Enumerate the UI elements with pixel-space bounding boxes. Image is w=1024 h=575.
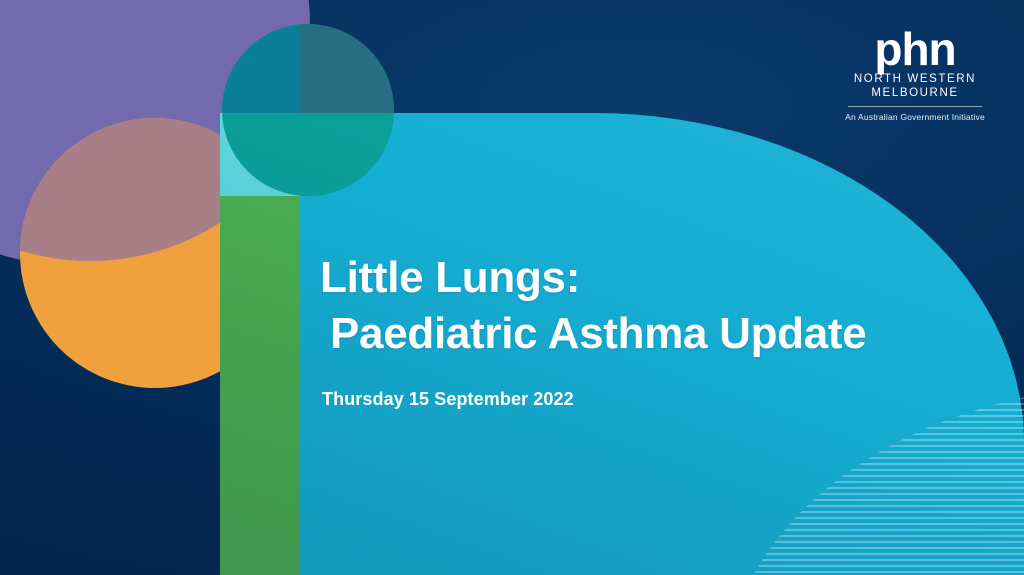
slide-title-line-2: Paediatric Asthma Update: [330, 306, 940, 362]
striped-arc-decoration: [724, 385, 1024, 575]
slide-date: Thursday 15 September 2022: [322, 389, 940, 410]
logo-org-line-1: NORTH WESTERN: [840, 72, 990, 86]
orange-cyan-overlap: [220, 196, 290, 390]
slide-title-line-1: Little Lungs:: [320, 250, 940, 306]
teal-circle-on-navy: [300, 24, 394, 113]
logo-org-line-2: MELBOURNE: [840, 86, 990, 100]
presentation-slide: phn NORTH WESTERN MELBOURNE An Australia…: [0, 0, 1024, 575]
phn-wordmark: phn: [840, 28, 990, 72]
logo-tagline: An Australian Government Initiative: [840, 112, 990, 122]
title-block: Little Lungs: Paediatric Asthma Update T…: [320, 250, 940, 410]
logo-divider: [848, 106, 982, 107]
phn-logo: phn NORTH WESTERN MELBOURNE An Australia…: [840, 28, 990, 122]
